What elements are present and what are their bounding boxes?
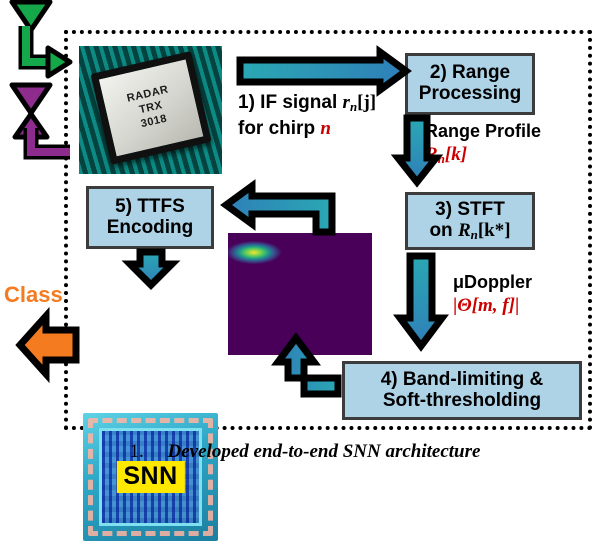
stage2-line1: 2) Range — [430, 63, 510, 84]
stage4-line1: 4) Band-limiting & — [381, 370, 544, 391]
stage5-line1: 5) TTFS — [115, 197, 185, 218]
classification-output-label: Class — [4, 283, 63, 308]
stage1-chirp-index: n — [320, 118, 331, 139]
micro-doppler-label: μDoppler — [453, 272, 532, 292]
micro-doppler-symbol: |Θ[m, f]| — [453, 295, 519, 316]
stage1-if-signal-label: 1) IF signal rn[j] — [238, 92, 376, 114]
range-profile-symbol: Rn[k] — [425, 144, 467, 166]
figure-caption: 1. Developed end-to-end SNN architecture — [0, 441, 610, 463]
snn-chip-label: SNN — [116, 461, 184, 493]
stage4-line2: Soft-thresholding — [383, 391, 541, 412]
stage5-line2: Encoding — [107, 218, 194, 239]
transmit-antenna-icon — [12, 2, 70, 76]
snn-accelerator-chip: SNN — [83, 413, 218, 541]
caption-number: 1. — [130, 441, 144, 462]
radar-transceiver-chip: RADAR TRX 3018 — [79, 46, 222, 174]
receive-antenna-icon — [12, 85, 70, 152]
stage2-range-processing-box[interactable]: 2) Range Processing — [405, 53, 535, 115]
stage3-line2: on Rn[k*] — [429, 221, 510, 242]
figure-root: RADAR TRX 3018 1) IF signal rn[j] for ch… — [0, 0, 610, 462]
stage5-ttfs-encoding-box[interactable]: 5) TTFS Encoding — [86, 186, 214, 249]
stage1-chirp-label: for chirp n — [238, 118, 331, 139]
radar-chip-label: RADAR TRX 3018 — [125, 84, 175, 134]
stage3-stft-box[interactable]: 3) STFT on Rn[k*] — [405, 192, 535, 250]
micro-doppler-spectrogram — [228, 233, 372, 355]
stage4-band-limiting-box[interactable]: 4) Band-limiting & Soft-thresholding — [342, 361, 582, 420]
stage2-line2: Processing — [419, 84, 521, 105]
caption-text: Developed end-to-end SNN architecture — [168, 441, 481, 462]
stage1-symbol: r — [343, 92, 350, 113]
stage3-line1: 3) STFT — [435, 200, 505, 221]
range-profile-label: Range Profile — [425, 121, 541, 141]
